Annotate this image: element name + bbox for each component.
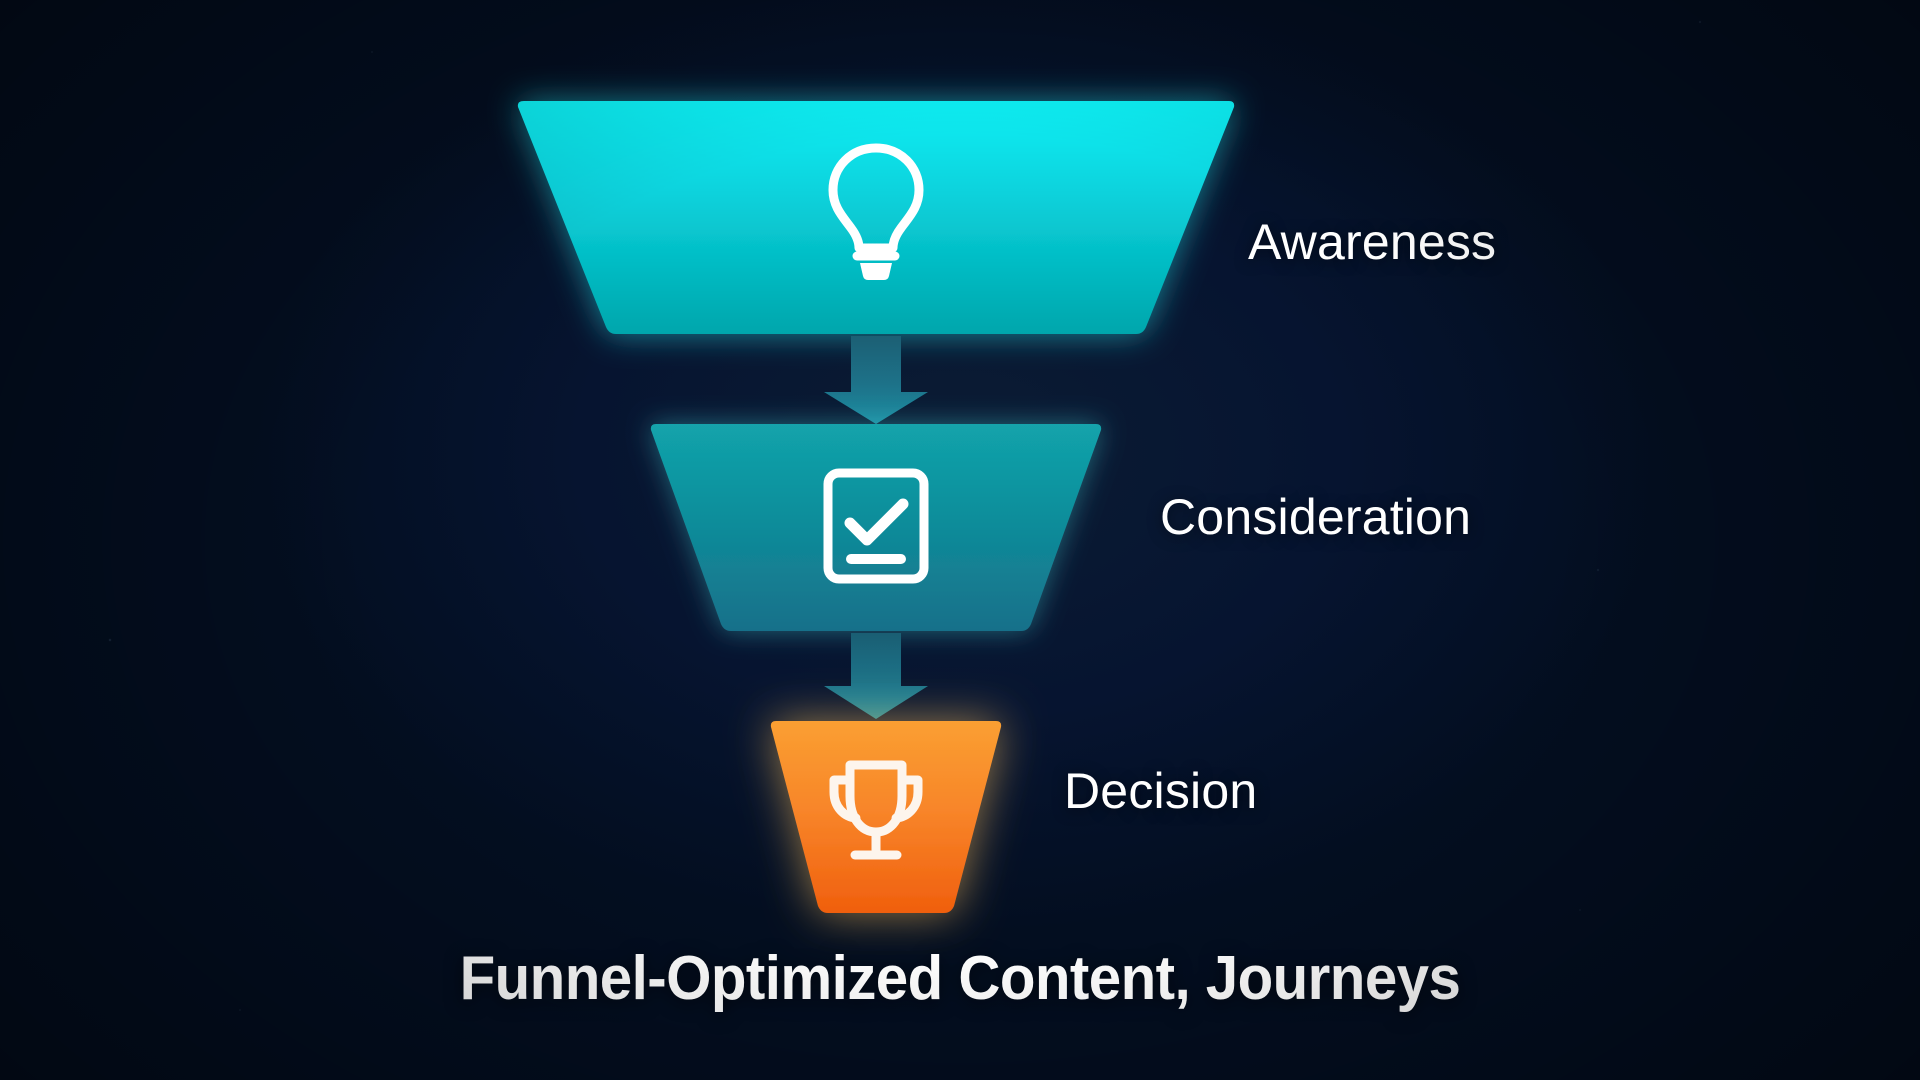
funnel-diagram-canvas: Awareness <box>0 0 1920 1080</box>
stage-label-decision: Decision <box>1064 762 1257 820</box>
trophy-icon <box>822 756 930 868</box>
diagram-title: Funnel-Optimized Content, Journeys <box>58 943 1863 1014</box>
funnel-stage-decision[interactable] <box>0 0 1920 1080</box>
